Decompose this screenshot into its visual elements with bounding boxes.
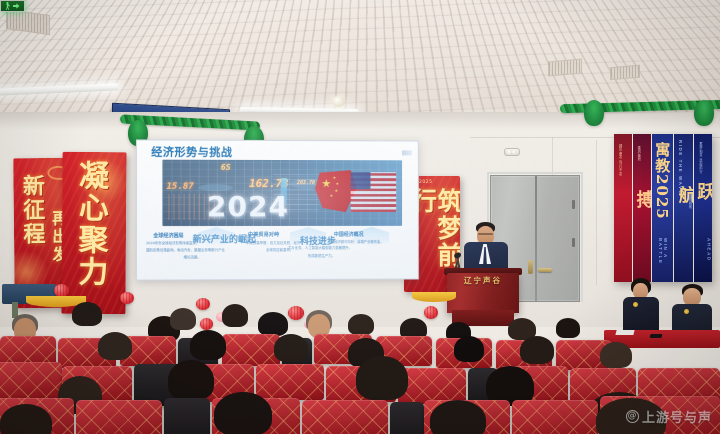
- panel-5-eng: FORGE AHEAD: [706, 238, 712, 282]
- exit-running-man-icon: [6, 2, 11, 10]
- audience-mid-hair-3: [274, 334, 308, 362]
- slide-year-2024: 2024: [207, 190, 289, 223]
- decor-lantern-2: [120, 292, 134, 304]
- slide-section-body-4: 芯片业务、人工智能大模型能力显著提升，: [288, 246, 352, 251]
- panel-3-eng: WIN A BATTLE: [658, 238, 668, 282]
- right-table-phone: [650, 334, 663, 338]
- panel-2-sub: 乘风破浪: [637, 146, 641, 161]
- slide-section-heading-3: 中美贸易对峙: [248, 231, 279, 238]
- podium: 辽宁声谷: [447, 273, 519, 313]
- seat-row2-1[interactable]: [0, 362, 62, 400]
- audience-front-hair-1: [214, 392, 272, 434]
- slide-section-body-4b: 形成新质生产力。: [308, 254, 335, 259]
- slide-section-heading-1: 全球经济困局: [153, 232, 183, 239]
- china-flag-star-small-4: [330, 194, 333, 197]
- audience-near-hair-2: [356, 356, 408, 400]
- slide-hero-image: 15.87 6S 162.73 203.70 2024: [162, 160, 402, 226]
- decor-lantern-5: [424, 306, 438, 319]
- audience-far-hair-12: [556, 318, 580, 338]
- seat-row1-6[interactable]: [512, 400, 598, 434]
- audience-far-hair-4: [170, 308, 196, 330]
- banner-unity: 凝心聚力: [61, 152, 126, 314]
- seat-row3-4[interactable]: [222, 334, 280, 366]
- door-lock-plate[interactable]: [528, 260, 533, 274]
- slide-section-body-1b: 国际形势动荡影响，电动汽车、数据业务等新兴产业: [146, 248, 225, 253]
- audience-far-hair-2: [72, 302, 102, 326]
- seat-row2-4[interactable]: [256, 364, 324, 400]
- panel-4-sub: 奋楫扬帆: [688, 194, 692, 209]
- ceiling-vent-right-2: [610, 65, 640, 81]
- audience-far-hair-5: [222, 304, 248, 327]
- slide-section-body-1: 2024年年全球经济形势持续复杂，: [146, 241, 199, 246]
- banner-text-unity: 凝心聚力: [74, 160, 105, 288]
- emergency-light: [504, 148, 520, 156]
- audience-far-hair-8: [348, 314, 374, 335]
- slide-corner-mark: [402, 150, 412, 155]
- projection-screen: 经济形势与挑战 15.87 6S 162.73 203.70: [136, 139, 419, 280]
- watermark: @ 上游号与声: [626, 407, 712, 426]
- seat-row1-4[interactable]: [302, 400, 388, 434]
- slide-section-heading-5: 中国经济概况: [334, 231, 364, 238]
- ceiling-vent-right: [548, 59, 582, 77]
- attendee-right-corsage: [684, 309, 689, 314]
- usa-flag: [351, 172, 396, 212]
- china-flag-star-large: [322, 179, 331, 188]
- watermark-text: 上游号与声: [642, 407, 712, 426]
- decor-lantern-3: [196, 298, 210, 310]
- panel-3-main: 寓教2025: [654, 142, 669, 220]
- right-table-paper: [615, 330, 634, 335]
- usa-flag-canton: [351, 172, 371, 189]
- ticker-value-1: 15.87: [166, 182, 193, 192]
- gold-swag-center: [412, 292, 456, 302]
- ticker-value-2: 6S: [221, 163, 231, 172]
- panel-1-sub: 踔厉奋发 笃行不怠: [618, 144, 622, 176]
- wall-ceiling-shadow: [0, 112, 720, 130]
- exit-arrow-icon: [13, 3, 20, 10]
- banner-text-new-journey: 新征程: [20, 174, 43, 246]
- door-hinge-top: [572, 200, 575, 209]
- ceiling-dome-lamp: [332, 96, 345, 107]
- audience-far-hair-6: [258, 312, 288, 336]
- seat-row1-2[interactable]: [76, 400, 162, 434]
- audience-mid-hair-6: [520, 336, 554, 364]
- china-flag-star-small-2: [336, 182, 339, 185]
- speaker-glasses: [478, 233, 493, 235]
- panel-5-sub: 蓄势勃发 勇毅前行: [698, 142, 702, 174]
- watermark-at-icon: @: [626, 410, 639, 423]
- audience-mid-hair-7: [600, 342, 632, 368]
- audience-front-hair-4: [0, 404, 52, 434]
- panel-4: RIDE THE WAVE 航 奋楫扬帆: [674, 134, 694, 282]
- door-hinge-mid: [572, 238, 575, 247]
- garland-tuft-4: [694, 100, 714, 126]
- conference-room-photo: 新征程 再出发 凝心聚力 启航2025 筑梦前行 踔厉奋发 笃行不怠 乘风破浪 …: [0, 0, 720, 434]
- china-flag-star-small-3: [335, 189, 338, 192]
- panel-2: 乘风破浪 搏: [633, 134, 652, 282]
- panel-5: 蓄势勃发 勇毅前行 跃 FORGE AHEAD: [694, 134, 712, 282]
- attendee-left-corsage: [633, 302, 638, 307]
- decor-lantern-4: [288, 306, 304, 320]
- audience-near-hair-1: [168, 360, 214, 400]
- door-handle[interactable]: [538, 268, 552, 272]
- panel-3: 寓教2025 WIN A BATTLE: [652, 134, 673, 282]
- slide-section-body-5: 中国经济稳中向好，高端产业链完善，: [328, 240, 384, 245]
- audience-mid-hair-1: [98, 332, 132, 360]
- exit-sign[interactable]: [0, 0, 25, 12]
- audience-mid-hair-2: [190, 330, 226, 360]
- panel-1: 踔厉奋发 笃行不怠: [614, 134, 632, 282]
- audience-mid-hair-5: [454, 336, 484, 362]
- banner-glow-2: [80, 158, 126, 204]
- seat-row1-dark-1[interactable]: [164, 398, 210, 434]
- panel-5-main: 跃: [695, 182, 712, 201]
- right-panel-banner: 踔厉奋发 笃行不怠 乘风破浪 搏 寓教2025 WIN A BATTLE RID…: [614, 134, 712, 282]
- panel-2-main: 搏: [635, 190, 652, 209]
- garland-tuft-3: [584, 100, 604, 126]
- slide-title: 经济形势与挑战: [151, 144, 232, 160]
- decor-lantern-6: [200, 318, 213, 330]
- seat-row1-dark-2[interactable]: [390, 402, 424, 434]
- attendee-standing-left: [622, 278, 660, 338]
- audience-front-hair-2: [430, 400, 486, 434]
- door-center-split: [535, 176, 537, 301]
- seat-row2-6[interactable]: [398, 368, 466, 404]
- china-flag-star-small-1: [333, 176, 336, 179]
- podium-name-plate: 辽宁声谷: [447, 275, 519, 286]
- slide-section-body-1c: 增长迅速。: [184, 255, 201, 260]
- wall-seam-vertical-b: [596, 140, 597, 285]
